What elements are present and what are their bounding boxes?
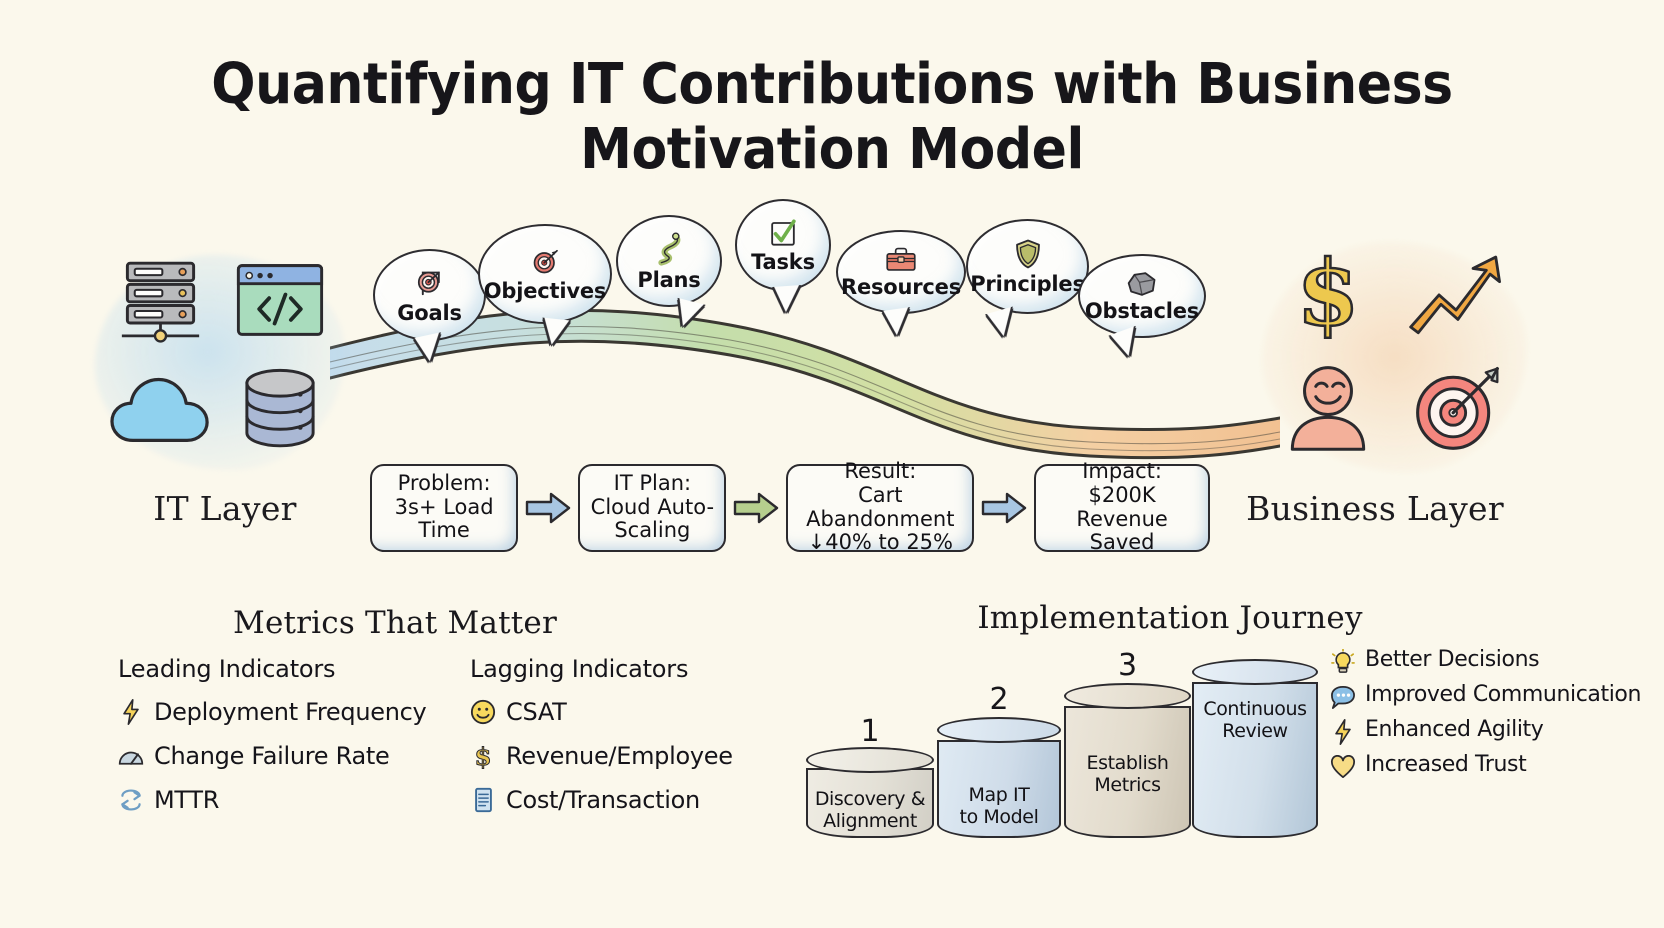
flow-step-line: Cart Abandonment (796, 484, 964, 531)
refresh-cycle-icon (118, 787, 144, 813)
flow-step-result[interactable]: Result: Cart Abandonment ↓40% to 25% (786, 464, 974, 552)
dollar-sign-icon: $ (1288, 244, 1368, 342)
journey-step-label: Discovery & Alignment (806, 789, 934, 832)
lightning-bolt-icon (118, 699, 144, 725)
journey-cylinder-top (1192, 659, 1318, 685)
flow-step-head: Impact: (1082, 460, 1162, 484)
rock-icon (1127, 271, 1157, 297)
gauge-icon (118, 743, 144, 769)
flow-step-line: ↓40% to 25% (808, 531, 953, 555)
journey-cylinder-top (806, 747, 934, 773)
journey-step-4[interactable]: 4 Continuous Review (1192, 672, 1318, 838)
heart-icon (1330, 754, 1356, 780)
it-layer-label: IT Layer (45, 489, 405, 528)
bubble-label: Principles (970, 274, 1085, 295)
growth-arrow-icon (1405, 249, 1509, 337)
flow-step-line: Cloud Auto- (591, 496, 714, 520)
journey-step-label: Continuous Review (1192, 699, 1318, 742)
flow-step-line: 3s+ Load (395, 496, 494, 520)
flow-step-problem[interactable]: Problem: 3s+ Load Time (370, 464, 518, 552)
metric-item[interactable]: $ Revenue/Employee (470, 739, 800, 773)
lagging-indicators-heading: Lagging Indicators (470, 655, 800, 683)
bubble-label: Obstacles (1085, 301, 1199, 322)
benefit-label: Increased Trust (1365, 753, 1526, 777)
svg-text:$: $ (474, 742, 491, 770)
journey-step-number: 3 (1064, 648, 1191, 683)
bubble-label: Plans (637, 270, 700, 291)
journey-step-line: Metrics (1064, 775, 1191, 796)
code-window-icon (234, 262, 326, 338)
document-icon (470, 787, 496, 813)
metric-label: Revenue/Employee (506, 742, 733, 770)
flow-arrow-3 (981, 491, 1027, 525)
infographic-canvas: Quantifying IT Contributions with Busine… (0, 0, 1664, 928)
flow-step-head: IT Plan: (614, 472, 691, 496)
bubble-label: Tasks (751, 252, 815, 273)
benefit-label: Improved Communication (1365, 683, 1641, 707)
bubble-label: Resources (841, 277, 961, 298)
database-icon (239, 363, 321, 455)
svg-text:$: $ (1296, 244, 1359, 342)
benefit-label: Enhanced Agility (1365, 718, 1543, 742)
metric-label: CSAT (506, 698, 566, 726)
metric-item[interactable]: Change Failure Rate (118, 739, 448, 773)
leading-indicators-heading: Leading Indicators (118, 655, 448, 683)
business-layer-icons: $ (1268, 238, 1516, 460)
flow-arrow-1 (525, 491, 571, 525)
bubble-obstacles[interactable]: Obstacles (1078, 254, 1206, 338)
journey-step-line: Continuous (1192, 699, 1318, 720)
journey-step-label: Establish Metrics (1064, 753, 1191, 796)
leading-indicators-column: Leading Indicators Deployment Frequency … (118, 655, 448, 827)
flow-step-head: Result: (844, 460, 916, 484)
flow-step-line: Time (418, 519, 469, 543)
metric-item[interactable]: Deployment Frequency (118, 695, 448, 729)
benefit-label: Better Decisions (1365, 648, 1539, 672)
it-layer-icons (105, 248, 335, 460)
metric-item[interactable]: CSAT (470, 695, 800, 729)
metrics-section-title: Metrics That Matter (135, 605, 655, 641)
journey-step-line: Map IT (937, 785, 1061, 806)
journey-step-1[interactable]: 1 Discovery & Alignment (806, 760, 934, 838)
journey-step-2[interactable]: 2 Map IT to Model (937, 730, 1061, 838)
flow-step-it-plan[interactable]: IT Plan: Cloud Auto- Scaling (578, 464, 726, 552)
lightbulb-icon (1330, 649, 1356, 675)
bubble-label: Objectives (484, 281, 606, 302)
journey-cylinder-top (1064, 683, 1191, 709)
target-flag-icon (414, 267, 446, 299)
benefit-item[interactable]: Increased Trust (1330, 753, 1650, 780)
benefit-item[interactable]: Better Decisions (1330, 648, 1650, 675)
journey-section-title: Implementation Journey (960, 600, 1380, 636)
toolbox-icon (884, 247, 918, 273)
journey-cylinder-top (937, 717, 1061, 743)
flow-step-head: Problem: (398, 472, 491, 496)
journey-step-line: Review (1192, 721, 1318, 742)
journey-step-line: to Model (937, 807, 1061, 828)
bubble-resources[interactable]: Resources (836, 230, 966, 314)
bubble-plans[interactable]: Plans (616, 215, 722, 307)
flow-arrow-2 (733, 491, 779, 525)
benefit-item[interactable]: Improved Communication (1330, 683, 1650, 710)
bullseye-icon (530, 247, 560, 277)
metric-label: Cost/Transaction (506, 786, 700, 814)
metric-label: MTTR (154, 786, 219, 814)
journey-step-line: Establish (1064, 753, 1191, 774)
winding-road-icon (654, 232, 684, 266)
server-rack-icon (113, 254, 208, 346)
flow-step-impact[interactable]: Impact: $200K Revenue Saved (1034, 464, 1210, 552)
dollar-sign-icon: $ (470, 743, 496, 769)
bubble-tasks[interactable]: Tasks (735, 199, 831, 291)
cloud-icon (108, 370, 213, 448)
lagging-indicators-column: Lagging Indicators CSAT $ Revenue/Employ… (470, 655, 800, 827)
benefits-list: Better Decisions Improved Communication … (1330, 648, 1650, 788)
value-chain-flow: Problem: 3s+ Load Time IT Plan: Cloud Au… (370, 455, 1210, 560)
speech-bubble-icon (1330, 684, 1356, 710)
journey-cylinders: 1 Discovery & Alignment 2 Map IT to Mode… (800, 660, 1325, 838)
target-arrow-icon (1409, 359, 1505, 455)
lightning-bolt-icon (1330, 719, 1356, 745)
journey-step-number: 1 (806, 714, 934, 749)
journey-step-3[interactable]: 3 Establish Metrics (1064, 696, 1191, 838)
bubble-goals[interactable]: Goals (373, 249, 486, 341)
journey-step-number: 2 (937, 682, 1061, 717)
metric-item[interactable]: MTTR (118, 783, 448, 817)
checkbox-check-icon (768, 218, 798, 248)
flow-step-line: Saved (1090, 531, 1155, 555)
person-icon (1284, 361, 1372, 453)
journey-step-label: Map IT to Model (937, 785, 1061, 828)
journey-step-line: Discovery & (806, 789, 934, 810)
bubble-label: Goals (397, 303, 462, 324)
page-title: Quantifying IT Contributions with Busine… (58, 52, 1606, 182)
journey-step-line: Alignment (806, 811, 934, 832)
metric-label: Change Failure Rate (154, 742, 389, 770)
smiley-face-icon (470, 699, 496, 725)
benefit-item[interactable]: Enhanced Agility (1330, 718, 1650, 745)
metric-label: Deployment Frequency (154, 698, 426, 726)
shield-icon (1014, 238, 1042, 270)
metric-item[interactable]: Cost/Transaction (470, 783, 800, 817)
bubble-principles[interactable]: Principles (966, 219, 1089, 314)
business-layer-label: Business Layer (1195, 489, 1555, 528)
bubble-objectives[interactable]: Objectives (478, 224, 612, 324)
flow-step-line: $200K Revenue (1044, 484, 1200, 531)
flow-step-line: Scaling (614, 519, 690, 543)
